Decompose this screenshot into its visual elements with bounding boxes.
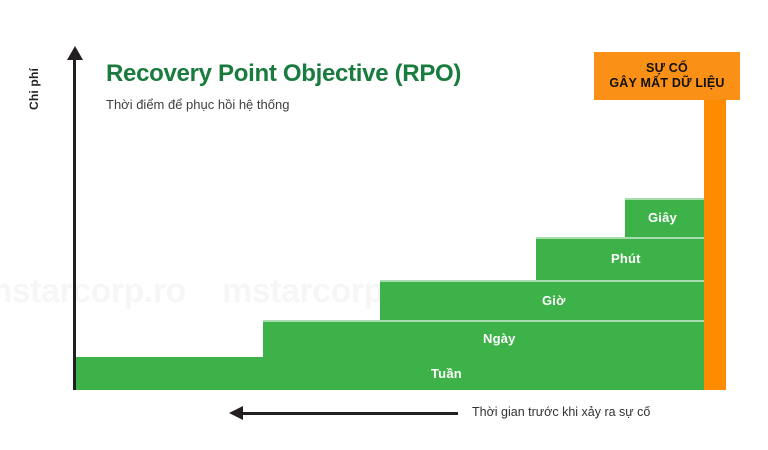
watermark: mstarcorp.ro bbox=[0, 272, 186, 311]
y-axis-line bbox=[73, 56, 76, 390]
title-block: Recovery Point Objective (RPO) Thời điểm… bbox=[106, 60, 461, 112]
step-divider bbox=[263, 320, 704, 322]
step-divider bbox=[380, 280, 704, 282]
step-bar-giay: Giây bbox=[625, 198, 704, 237]
incident-banner: SỰ CỐ GÂY MẤT DỮ LIỆU bbox=[594, 52, 740, 100]
step-label: Giờ bbox=[542, 293, 566, 308]
step-label: Ngày bbox=[483, 331, 516, 346]
step-divider bbox=[536, 237, 704, 239]
incident-marker-bar bbox=[704, 52, 726, 390]
step-bar-phut: Phút bbox=[536, 237, 704, 280]
step-bar-gio: Giờ bbox=[380, 280, 704, 320]
page-subtitle: Thời điểm để phục hồi hệ thống bbox=[106, 97, 461, 112]
rpo-infographic: mstarcorp.ro mstarcorp.ro mstarcorp.ro C… bbox=[0, 0, 768, 450]
x-axis-label: Thời gian trước khi xảy ra sự cố bbox=[472, 405, 650, 419]
time-axis-line bbox=[240, 412, 458, 415]
step-label: Tuần bbox=[431, 366, 462, 381]
incident-banner-line1: SỰ CỐ bbox=[646, 61, 688, 76]
step-label: Phút bbox=[611, 251, 641, 266]
incident-banner-line2: GÂY MẤT DỮ LIỆU bbox=[609, 76, 724, 91]
step-label: Giây bbox=[648, 210, 677, 225]
step-divider bbox=[625, 198, 704, 200]
y-axis-label: Chi phí bbox=[27, 44, 41, 134]
step-bar-tuan: Tuần bbox=[76, 357, 704, 390]
step-bar-ngay: Ngày bbox=[263, 320, 704, 357]
page-title: Recovery Point Objective (RPO) bbox=[106, 60, 461, 88]
